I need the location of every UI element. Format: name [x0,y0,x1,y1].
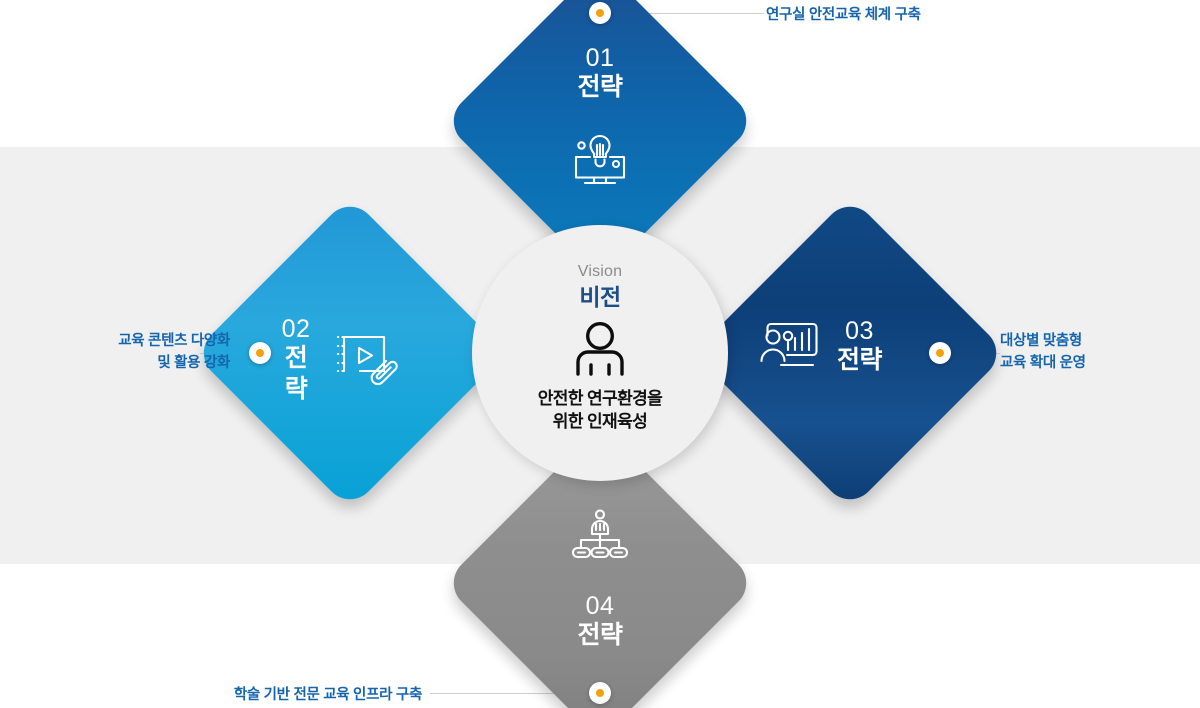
strategy-title-03: 전략 [837,345,882,376]
strategy-content-04: 04 전략 [540,508,660,651]
strategy-label-04: 학술 기반 전문 교육 인프라 구축 [40,684,422,706]
strategy-number-03: 03 [837,318,882,345]
strategy-content-01: 01 전략 [540,45,660,194]
strategy-label-02: 교육 콘텐츠 다양화 및 활용 강화 [20,330,230,375]
connector-dot-bottom[interactable] [589,682,611,704]
vision-circle[interactable]: Vision 비전 안전한 연구환경을 위한 인재육성 [472,225,728,481]
strategy-number-02: 02 [278,316,314,343]
strategy-content-03: 03 전략 [755,316,935,379]
connector-dot-left[interactable] [249,342,271,364]
strategy-number-01: 01 [540,45,660,72]
connector-dot-top[interactable] [589,2,611,24]
strategy-number-04: 04 [540,593,660,620]
vision-label-ko: 비전 [579,283,620,313]
person-chart-icon [755,316,823,379]
vision-label-en: Vision [578,263,623,281]
person-icon [574,321,626,382]
vision-description: 안전한 연구환경을 위한 인재육성 [538,388,662,433]
strategy-title-01: 전략 [540,72,660,103]
lightbulb-monitor-icon [540,131,660,194]
org-chart-icon [540,508,660,567]
video-attachment-icon [326,327,398,394]
vision-strategy-diagram: 01 전략 02 전략 [0,0,1200,708]
strategy-content-02: 02 전략 [278,316,398,406]
strategy-label-01: 연구실 안전교육 체계 구축 [766,4,921,26]
strategy-title-02: 전략 [278,343,314,406]
strategy-title-04: 전략 [540,620,660,651]
strategy-label-03: 대상별 맞춤형 교육 확대 운영 [1000,330,1086,375]
